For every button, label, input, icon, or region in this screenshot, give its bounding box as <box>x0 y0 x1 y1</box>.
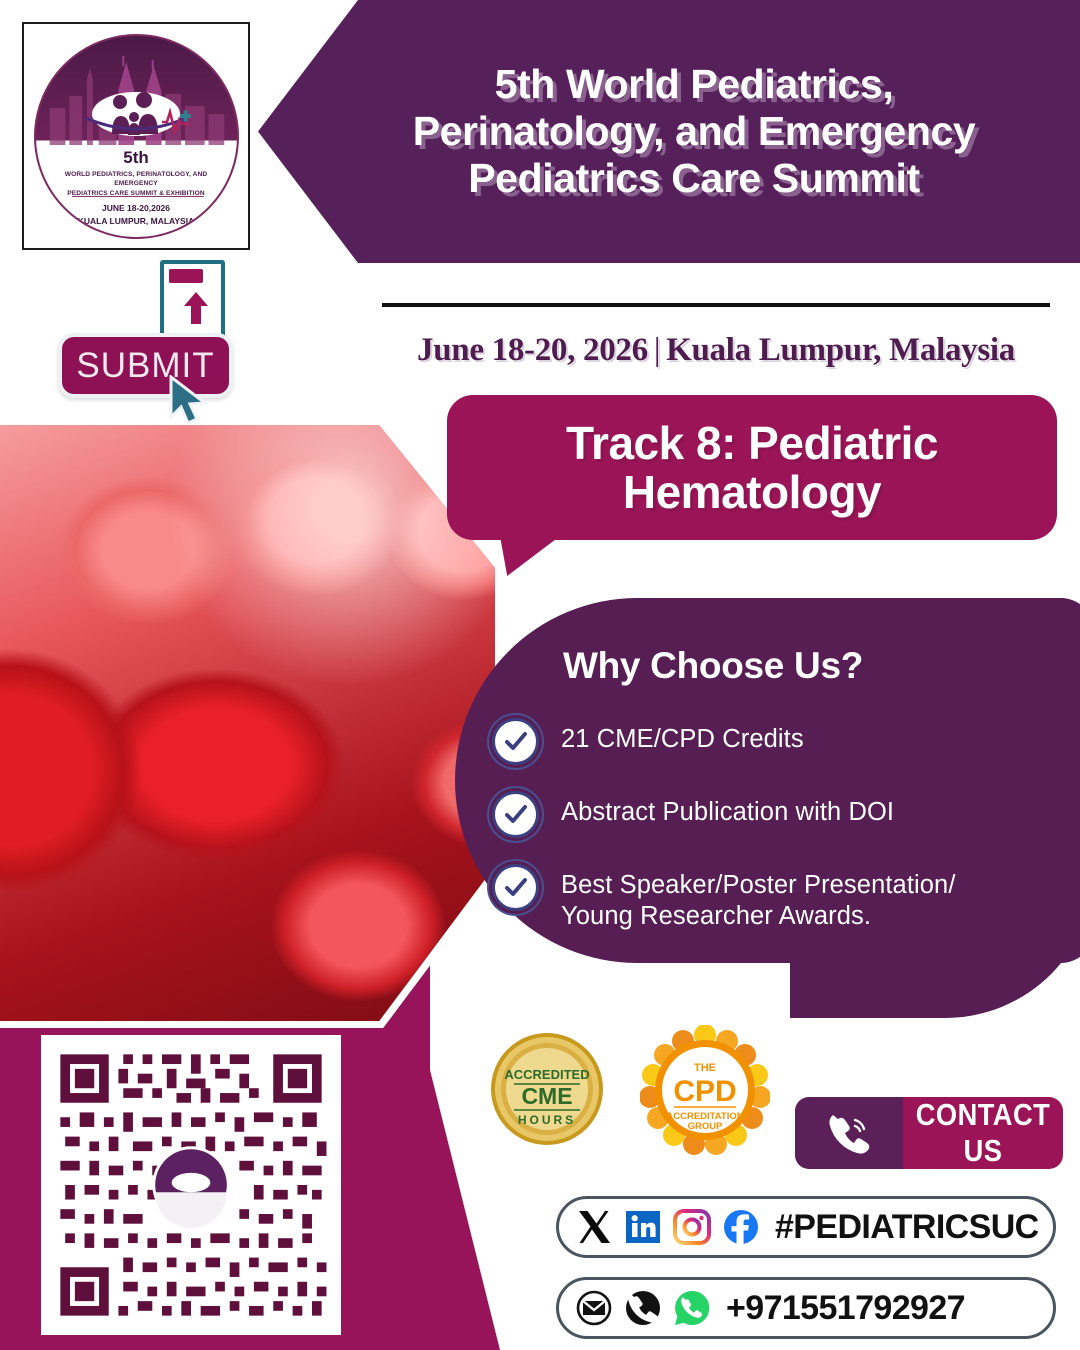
logo-subtitle-line-1: WORLD PEDIATRICS, PERINATOLOGY, AND EMER… <box>48 170 225 189</box>
svg-text:HOURS: HOURS <box>518 1113 576 1127</box>
conference-poster: 5th World Pediatrics, Perinatology, and … <box>0 0 1080 1350</box>
list-item: Abstract Publication with DOI <box>492 791 1052 838</box>
list-item: Best Speaker/Poster Presentation/ Young … <box>492 864 1052 932</box>
date-venue-separator: | <box>648 332 666 369</box>
logo-circle: 5th WORLD PEDIATRICS, PERINATOLOGY, AND … <box>34 34 239 239</box>
page-title-line-3: Pediatrics Care Summit <box>413 155 976 202</box>
phone-icon <box>827 1111 871 1155</box>
cpd-accreditation-group-seal: THE CPD ACCREDITATION GROUP <box>640 1025 770 1155</box>
telephone-icon[interactable] <box>622 1287 664 1329</box>
track-banner-tail <box>500 536 560 576</box>
x-twitter-icon[interactable] <box>573 1206 615 1248</box>
whatsapp-icon[interactable] <box>671 1287 713 1329</box>
logo-location: KUALA LUMPUR, MALAYSIA <box>36 215 237 229</box>
event-venue: Kuala Lumpur, Malaysia <box>666 332 1015 369</box>
svg-text:GROUP: GROUP <box>688 1121 724 1132</box>
svg-text:CME: CME <box>521 1083 572 1109</box>
event-date-venue: June 18-20, 2026 | Kuala Lumpur, Malaysi… <box>382 325 1050 375</box>
date-divider-rule <box>382 303 1050 307</box>
page-title-line-1: 5th World Pediatrics, <box>413 61 976 108</box>
page-title-line-2: Perinatology, and Emergency <box>413 108 976 155</box>
instagram-icon[interactable] <box>671 1206 713 1248</box>
check-icon <box>502 874 530 902</box>
accredited-cme-hours-seal: ACCREDITED CME HOURS <box>488 1030 606 1148</box>
track-title-line-1: Track 8: Pediatric <box>566 419 938 467</box>
social-handles-pill[interactable]: #PEDIATRICSUCG <box>556 1196 1056 1258</box>
blood-cells-image <box>0 418 502 1028</box>
logo-date: JUNE 18-20,2026 <box>36 202 237 216</box>
contact-icon-pad <box>795 1097 903 1169</box>
check-icon <box>502 728 530 756</box>
check-circle-icon <box>492 718 539 765</box>
track-title: Track 8: Pediatric Hematology <box>566 419 938 516</box>
phone-number: +971551792927 <box>726 1289 965 1328</box>
contact-us-button[interactable]: CONTACT US <box>795 1097 1063 1169</box>
track-title-line-2: Hematology <box>566 468 938 516</box>
track-title-banner: Track 8: Pediatric Hematology <box>447 395 1057 540</box>
event-dates: June 18-20, 2026 <box>417 332 648 369</box>
linkedin-icon[interactable] <box>622 1206 664 1248</box>
cursor-pointer-icon <box>167 375 213 427</box>
contact-us-label: CONTACT US <box>913 1097 1054 1169</box>
document-header-bar <box>169 269 203 283</box>
document-upload-icon <box>160 260 225 340</box>
svg-text:CPD: CPD <box>673 1075 736 1108</box>
header-banner: 5th World Pediatrics, Perinatology, and … <box>258 0 1080 263</box>
social-handle: #PEDIATRICSUCG <box>775 1208 1039 1247</box>
family-icon <box>76 88 196 150</box>
phone-contact-pill[interactable]: +971551792927 <box>556 1277 1056 1339</box>
page-title: 5th World Pediatrics, Perinatology, and … <box>353 61 986 202</box>
check-circle-icon <box>492 791 539 838</box>
why-choose-item-2: Best Speaker/Poster Presentation/ Young … <box>561 864 956 932</box>
why-choose-item-0: 21 CME/CPD Credits <box>561 718 804 755</box>
blood-cells-image-inner <box>0 425 495 1021</box>
why-choose-list: 21 CME/CPD Credits Abstract Publication … <box>492 718 1052 958</box>
conference-logo: 5th WORLD PEDIATRICS, PERINATOLOGY, AND … <box>22 22 250 250</box>
logo-divider <box>72 196 204 198</box>
logo-date-location: JUNE 18-20,2026 KUALA LUMPUR, MALAYSIA <box>36 202 237 229</box>
check-icon <box>502 801 530 829</box>
email-icon[interactable] <box>573 1287 615 1329</box>
svg-text:THE: THE <box>694 1062 716 1074</box>
svg-text:ACCREDITED: ACCREDITED <box>504 1067 589 1082</box>
logo-subtitle: WORLD PEDIATRICS, PERINATOLOGY, AND EMER… <box>36 170 237 199</box>
logo-ordinal: 5th <box>36 148 237 168</box>
why-choose-item-1: Abstract Publication with DOI <box>561 791 894 828</box>
facebook-icon[interactable] <box>720 1206 762 1248</box>
list-item: 21 CME/CPD Credits <box>492 718 1052 765</box>
check-circle-icon <box>492 864 539 911</box>
submit-abstract-graphic[interactable]: SUBMIT <box>55 255 285 425</box>
why-choose-title: Why Choose Us? <box>563 645 983 687</box>
upload-arrow-icon <box>182 290 210 326</box>
qr-code[interactable] <box>36 1035 346 1335</box>
